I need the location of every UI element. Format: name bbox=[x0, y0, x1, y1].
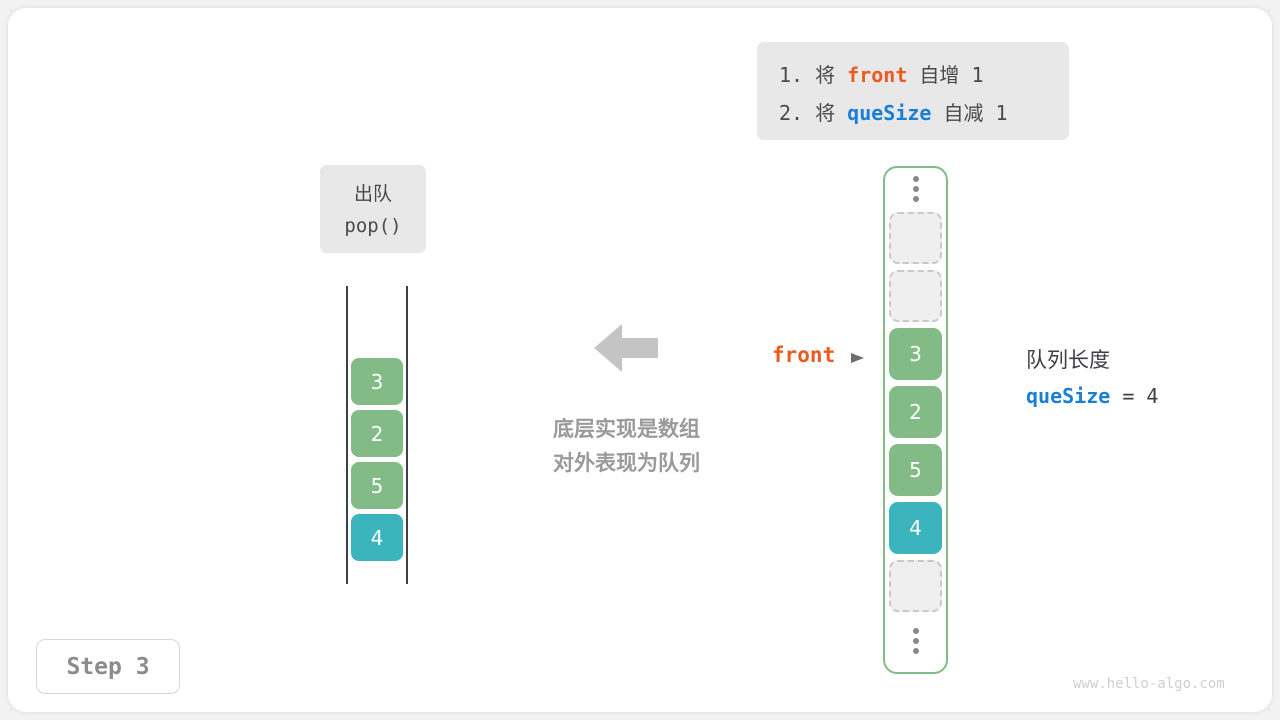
array-cell-empty bbox=[889, 270, 942, 322]
instruction-1-keyword: front bbox=[847, 63, 907, 87]
front-pointer-arrow-icon bbox=[851, 350, 867, 366]
vertical-ellipsis-icon bbox=[889, 166, 942, 212]
instruction-box: 1. 将 front 自增 1 2. 将 queSize 自减 1 bbox=[757, 42, 1069, 140]
vertical-ellipsis-icon bbox=[889, 618, 942, 664]
watermark: www.hello-algo.com bbox=[1073, 676, 1225, 692]
queue-cell: 5 bbox=[351, 462, 403, 509]
instruction-2-prefix: 2. 将 bbox=[779, 101, 847, 125]
array-cell: 4 bbox=[889, 502, 942, 554]
caption-block: 底层实现是数组 对外表现为队列 bbox=[529, 412, 724, 480]
quesize-equals: = 4 bbox=[1110, 384, 1158, 408]
array-cell-empty bbox=[889, 212, 942, 264]
instruction-2-suffix: 自减 1 bbox=[931, 101, 1007, 125]
diagram-canvas: 1. 将 front 自增 1 2. 将 queSize 自减 1 出队 pop… bbox=[0, 0, 1280, 720]
operation-label-box: 出队 pop() bbox=[320, 165, 426, 253]
left-arrow-icon bbox=[594, 322, 658, 374]
operation-title: 出队 bbox=[320, 178, 426, 210]
queue-cell: 3 bbox=[351, 358, 403, 405]
instruction-1-suffix: 自增 1 bbox=[907, 63, 983, 87]
operation-method: pop() bbox=[320, 210, 426, 242]
array-cell-list: 3254 bbox=[889, 166, 942, 674]
array-cell: 2 bbox=[889, 386, 942, 438]
instruction-2-keyword: queSize bbox=[847, 101, 931, 125]
queue-size-title: 队列长度 bbox=[1026, 342, 1158, 378]
queue-size-value: queSize = 4 bbox=[1026, 378, 1158, 414]
array-cell: 5 bbox=[889, 444, 942, 496]
step-badge: Step 3 bbox=[36, 639, 180, 694]
caption-line-2: 对外表现为队列 bbox=[529, 446, 724, 480]
instruction-line-1: 1. 将 front 自增 1 bbox=[779, 56, 1047, 94]
instruction-1-prefix: 1. 将 bbox=[779, 63, 847, 87]
caption-line-1: 底层实现是数组 bbox=[529, 412, 724, 446]
queue-cell: 2 bbox=[351, 410, 403, 457]
queue-rail-right bbox=[406, 286, 408, 584]
array-cell: 3 bbox=[889, 328, 942, 380]
array-cell-empty bbox=[889, 560, 942, 612]
instruction-line-2: 2. 将 queSize 自减 1 bbox=[779, 94, 1047, 132]
step-badge-label: Step 3 bbox=[66, 654, 149, 680]
front-pointer-label: front bbox=[772, 343, 835, 367]
quesize-variable: queSize bbox=[1026, 384, 1110, 408]
queue-cell: 4 bbox=[351, 514, 403, 561]
queue-cell-list: 3254 bbox=[351, 358, 403, 566]
queue-size-note: 队列长度 queSize = 4 bbox=[1026, 342, 1158, 414]
queue-rail-left bbox=[346, 286, 348, 584]
